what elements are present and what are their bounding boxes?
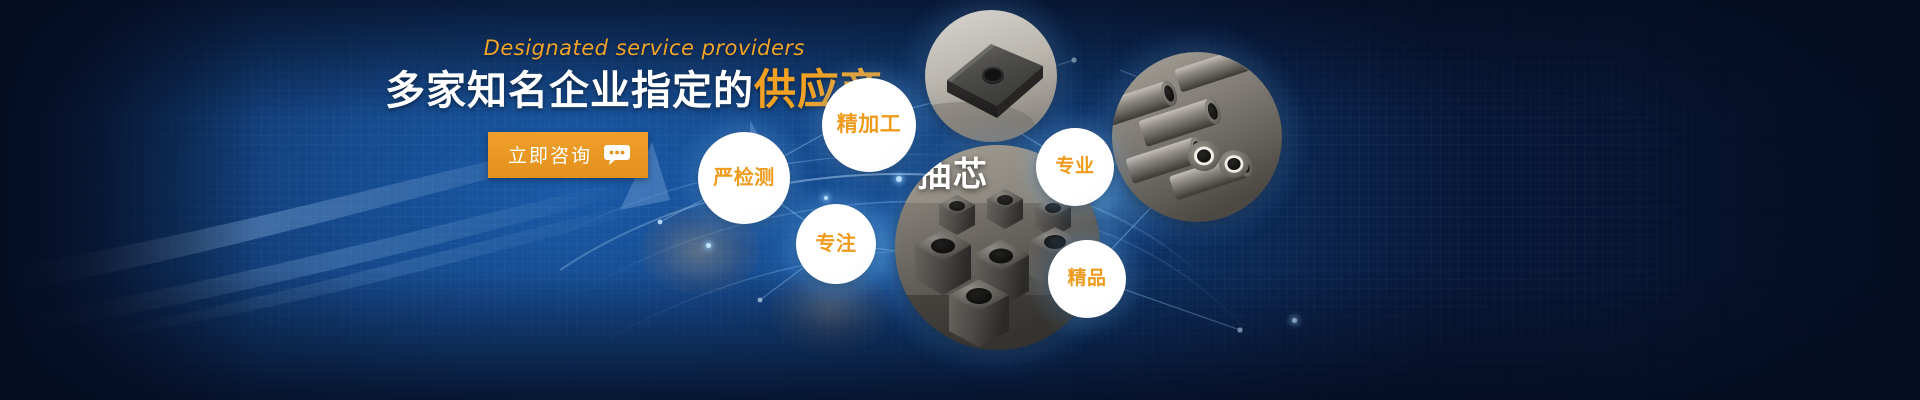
bubble-label: 专业	[1055, 157, 1094, 177]
bubble-label: 精品	[1067, 269, 1106, 289]
photo-steel-plate	[925, 10, 1057, 142]
consult-now-button[interactable]: 立即咨询	[488, 132, 648, 178]
bubble-label: 严检测	[713, 168, 775, 189]
promo-banner: Designated service providers 多家知名企业指定的供应…	[0, 0, 1920, 400]
consult-now-label: 立即咨询	[508, 141, 592, 168]
bubble-label: 精加工	[837, 114, 902, 136]
bubble-premium[interactable]: 精品	[1048, 240, 1126, 318]
tagline: Designated service providers	[385, 36, 805, 60]
bubble-fine-machining[interactable]: 精加工	[822, 78, 916, 172]
bubble-label: 专注	[816, 234, 857, 255]
bubble-professional[interactable]: 专业	[1036, 128, 1114, 206]
bubble-strict-testing[interactable]: 严检测	[698, 132, 790, 224]
page-title: 多家知名企业指定的供应商	[385, 66, 805, 114]
photo-steel-tubes	[1112, 52, 1282, 222]
headline-primary: 多家知名企业指定的	[385, 69, 754, 113]
bubble-focus[interactable]: 专注	[796, 204, 876, 284]
chat-bubble-icon	[604, 145, 630, 165]
